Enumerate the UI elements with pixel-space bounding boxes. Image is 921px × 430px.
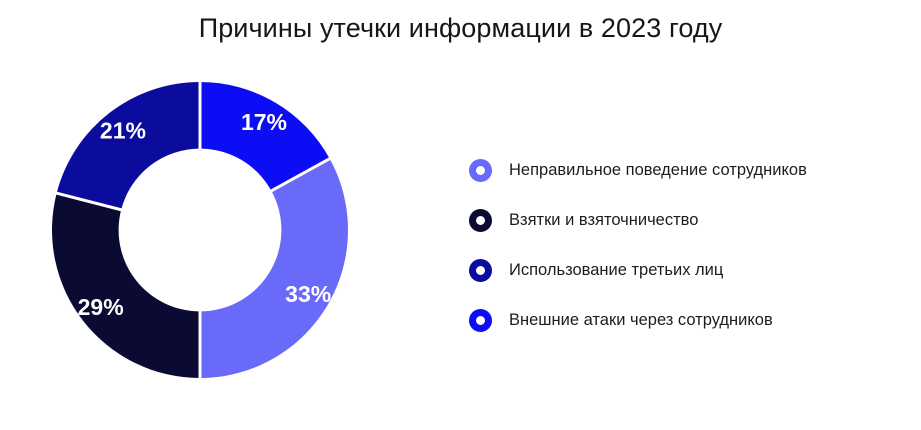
donut-svg: 17% 33% 29% 21% (52, 82, 348, 378)
donut-chart: 17% 33% 29% 21% (52, 82, 348, 378)
legend-item-employee-misconduct[interactable]: Неправильное поведение сотрудников (469, 145, 899, 195)
legend-item-bribery[interactable]: Взятки и взяточничество (469, 195, 899, 245)
legend-marker-icon (469, 159, 492, 182)
legend-item-label: Внешние атаки через сотрудников (509, 310, 773, 330)
legend-item-external-attacks[interactable]: Внешние атаки через сотрудников (469, 295, 899, 345)
donut-slice-third-parties[interactable] (57, 82, 200, 210)
chart-title: Причины утечки информации в 2023 году (0, 8, 921, 48)
donut-slice-employee-misconduct[interactable] (200, 159, 348, 378)
legend-marker-icon (469, 259, 492, 282)
donut-chart-figure: Причины утечки информации в 2023 году 17… (0, 0, 921, 430)
legend-marker-icon (469, 209, 492, 232)
legend-item-third-parties[interactable]: Использование третьих лиц (469, 245, 899, 295)
legend-item-label: Использование третьих лиц (509, 260, 723, 280)
slice-label-employee-misconduct: 33% (285, 281, 331, 307)
chart-legend: Неправильное поведение сотрудников Взятк… (469, 145, 899, 345)
slice-label-bribery: 29% (78, 294, 124, 320)
legend-item-label: Взятки и взяточничество (509, 210, 698, 230)
legend-item-label: Неправильное поведение сотрудников (509, 160, 807, 180)
legend-marker-icon (469, 309, 492, 332)
donut-slice-bribery[interactable] (52, 193, 200, 378)
slice-label-external-attacks: 17% (241, 109, 287, 135)
slice-label-third-parties: 21% (100, 118, 146, 144)
